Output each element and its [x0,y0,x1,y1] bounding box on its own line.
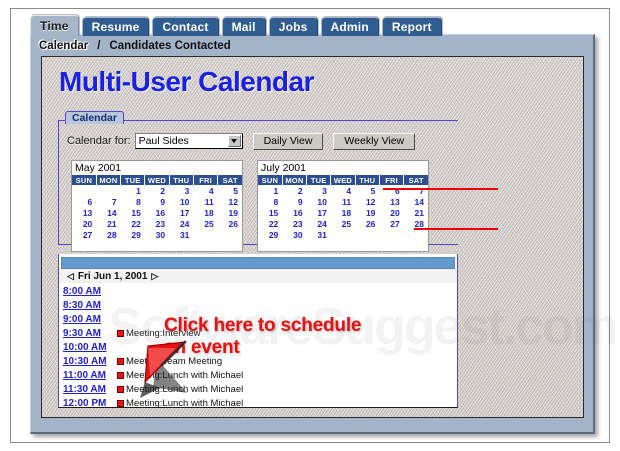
month-header-row: SUN MON TUE WED THU FRI SAT [72,175,242,185]
month-week-row: 6 7 8 9 10 11 12 [72,196,242,207]
day-header-sun: SUN [72,175,96,185]
day-cell-empty [404,229,428,240]
mini-calendar-may-grid: SUN MON TUE WED THU FRI SAT [72,175,242,251]
day-cell-empty [193,240,217,251]
day-view-date-bar: ◁ Fri Jun 1, 2001 ▷ [59,269,457,284]
day-header-thu: THU [169,175,193,185]
event-entry[interactable]: Meeting:Lunch with Michael [117,370,243,381]
event-entry[interactable]: Meeting:Interview [117,328,200,339]
day-cell[interactable]: 6 [379,185,403,196]
event-entry[interactable]: Meeting:Lunch with Michael [117,384,243,395]
time-slot-link[interactable]: 11:00 AM [63,370,117,381]
time-slot-row[interactable]: 9:00 AM [59,312,457,326]
day-cell-empty [355,240,379,251]
day-header-fri: FRI [193,175,217,185]
month-week-row: 1 2 3 4 5 [72,185,242,196]
month-header-row: SUN MON TUE WED THU FRI SAT [258,175,428,185]
day-cell[interactable]: 13 [72,207,96,218]
time-slot-row[interactable]: 12:00 PM Meeting:Lunch with Michael [59,397,457,408]
event-entry[interactable]: Meeting:Lunch with Michael [117,398,243,408]
day-view-header-bar [61,257,455,269]
day-cell-empty [218,229,242,240]
day-cell[interactable]: 1 [121,185,145,196]
mini-calendar-may: May 2001 SUN MON TUE WED THU FRI SAT [71,160,243,252]
day-cell[interactable]: 9 [282,196,306,207]
day-cell[interactable]: 7 [96,196,120,207]
day-header-sun: SUN [258,175,282,185]
tab-jobs[interactable]: Jobs [269,17,318,36]
month-week-row: 8 9 10 11 12 13 14 [258,196,428,207]
day-cell[interactable]: 18 [193,207,217,218]
tab-mail-label: Mail [232,20,256,34]
event-label: Meeting:Lunch with Michael [126,370,243,381]
day-cell[interactable]: 26 [355,218,379,229]
screenshot-root: Time Resume Contact Mail Jobs Admin Repo… [0,0,620,451]
event-label: Meeting:Lunch with Michael [126,384,243,395]
day-view-panel: ◁ Fri Jun 1, 2001 ▷ 8:00 AM 8:30 AM 9:00… [58,254,458,408]
tab-jobs-label: Jobs [279,20,308,34]
day-cell[interactable]: 10 [307,196,331,207]
event-label: Meeting:Lunch with Michael [126,398,243,408]
day-cell[interactable]: 13 [379,196,403,207]
tab-report[interactable]: Report [382,17,442,36]
day-cell[interactable]: 29 [258,229,282,240]
day-cell[interactable]: 10 [169,196,193,207]
daily-view-button[interactable]: Daily View [253,133,324,150]
day-cell[interactable]: 7 [404,185,428,196]
tab-time[interactable]: Time [30,15,79,36]
day-cell[interactable]: 24 [169,218,193,229]
weekly-view-button-label: Weekly View [344,135,404,147]
tab-time-label: Time [40,19,69,33]
month-week-row: 15 16 17 18 19 20 21 [258,207,428,218]
time-slot-row[interactable]: 10:30 AM Meeting:Team Meeting [59,354,457,368]
day-cell[interactable]: 27 [379,218,403,229]
time-slot-link[interactable]: 9:30 AM [63,328,117,339]
day-cell[interactable]: 21 [96,218,120,229]
event-marker-icon [117,372,124,379]
tab-contact[interactable]: Contact [152,17,218,36]
day-cell[interactable]: 23 [282,218,306,229]
annotation-line-july-week [414,228,498,230]
previous-day-icon[interactable]: ◁ [63,271,78,282]
day-cell[interactable]: 29 [121,229,145,240]
day-cell[interactable]: 20 [72,218,96,229]
day-cell[interactable]: 19 [355,207,379,218]
daily-view-button-label: Daily View [264,135,313,147]
day-header-wed: WED [331,175,355,185]
time-slot-link[interactable]: 8:30 AM [63,300,117,311]
day-cell[interactable]: 25 [331,218,355,229]
day-cell[interactable]: 31 [169,229,193,240]
day-cell[interactable]: 9 [145,196,169,207]
day-cell[interactable]: 22 [121,218,145,229]
chevron-down-icon[interactable] [228,135,241,147]
day-cell[interactable]: 21 [404,207,428,218]
day-header-wed: WED [145,175,169,185]
day-header-sat: SAT [404,175,428,185]
day-cell-empty [72,240,96,251]
time-slot-row[interactable]: 8:30 AM [59,298,457,312]
day-cell[interactable]: 11 [331,196,355,207]
time-slot-link[interactable]: 8:00 AM [63,286,117,297]
day-cell[interactable]: 25 [193,218,217,229]
day-cell[interactable]: 16 [282,207,306,218]
tab-resume-label: Resume [92,20,140,34]
day-cell[interactable]: 3 [307,185,331,196]
event-marker-icon [117,400,124,407]
day-cell[interactable]: 6 [72,196,96,207]
tab-mail[interactable]: Mail [222,17,266,36]
day-cell[interactable]: 3 [169,185,193,196]
day-cell[interactable]: 14 [96,207,120,218]
annotation-line-weekly-view [383,188,498,190]
day-cell[interactable]: 5 [355,185,379,196]
time-slot-link[interactable]: 9:00 AM [63,314,117,325]
day-cell-empty [355,229,379,240]
month-week-row: 29 30 31 [258,229,428,240]
day-cell[interactable]: 2 [145,185,169,196]
tab-resume[interactable]: Resume [82,17,150,36]
day-cell-empty [193,229,217,240]
day-cell[interactable]: 8 [258,196,282,207]
time-slot-link[interactable]: 10:00 AM [63,342,117,353]
month-week-row: 22 23 24 25 26 27 28 [258,218,428,229]
day-cell[interactable]: 12 [218,196,242,207]
mini-calendar-july: July 2001 SUN MON TUE WED THU FRI SAT [257,160,429,252]
tab-admin-label: Admin [331,20,369,34]
mini-calendar-july-grid: SUN MON TUE WED THU FRI SAT 1 [258,175,428,251]
day-cell[interactable]: 19 [218,207,242,218]
content-panel: Multi-User Calendar Calendar Calendar fo… [41,56,584,418]
day-cell[interactable]: 17 [169,207,193,218]
fieldset-legend-calendar: Calendar [65,111,124,124]
month-week-row: 27 28 29 30 31 [72,229,242,240]
time-slot-link[interactable]: 11:30 AM [63,384,117,395]
day-cell[interactable]: 24 [307,218,331,229]
day-cell[interactable]: 1 [258,185,282,196]
day-cell[interactable] [96,185,120,196]
day-header-mon: MON [96,175,120,185]
mini-calendar-may-title: May 2001 [72,161,242,175]
app-window: Calendar / Candidates Contacted Multi-Us… [30,34,595,434]
next-day-icon[interactable]: ▷ [147,271,162,282]
day-cell[interactable]: 4 [193,185,217,196]
day-cell[interactable]: 16 [145,207,169,218]
day-cell[interactable] [72,185,96,196]
day-header-thu: THU [355,175,379,185]
calendar-user-select-value: Paul Sides [136,135,189,147]
calendar-user-select[interactable]: Paul Sides [135,133,243,149]
day-cell[interactable]: 27 [72,229,96,240]
day-cell-empty [307,240,331,251]
day-cell[interactable]: 8 [121,196,145,207]
calendar-toolbar: Calendar for: Paul Sides Daily View Week… [67,132,415,150]
day-cell-empty [331,240,355,251]
day-header-mon: MON [282,175,306,185]
day-header-tue: TUE [121,175,145,185]
day-cell[interactable]: 26 [218,218,242,229]
day-cell[interactable]: 30 [145,229,169,240]
time-slot-link[interactable]: 12:00 PM [63,398,117,408]
time-slot-row[interactable]: 11:00 AM Meeting:Lunch with Michael [59,369,457,383]
day-view-date-label: Fri Jun 1, 2001 [78,271,147,282]
day-cell-empty [258,240,282,251]
day-cell[interactable]: 31 [307,229,331,240]
time-slot-link[interactable]: 10:30 AM [63,356,117,367]
main-tab-bar: Time Resume Contact Mail Jobs Admin Repo… [30,16,445,36]
month-week-row: 1 2 3 4 5 6 7 [258,185,428,196]
breadcrumb-separator: / [97,40,100,52]
day-cell[interactable]: 11 [193,196,217,207]
page-title: Multi-User Calendar [59,66,314,98]
month-week-row: 20 21 22 23 24 25 26 [72,218,242,229]
tab-contact-label: Contact [162,20,208,34]
event-label: Meeting:Team Meeting [126,356,222,367]
day-cell-empty [331,229,355,240]
day-header-sat: SAT [218,175,242,185]
day-cell-empty [96,240,120,251]
time-slot-row[interactable]: 8:00 AM [59,284,457,298]
mini-calendar-july-title: July 2001 [258,161,428,175]
day-cell[interactable]: 18 [331,207,355,218]
event-marker-icon [117,358,124,365]
day-cell[interactable]: 2 [282,185,306,196]
time-slot-row[interactable]: 9:30 AM Meeting:Interview [59,326,457,340]
breadcrumb-item-candidates-contacted[interactable]: Candidates Contacted [109,40,230,52]
day-cell[interactable]: 15 [258,207,282,218]
weekly-view-button[interactable]: Weekly View [333,133,415,150]
day-cell-empty [282,240,306,251]
day-cell[interactable]: 28 [96,229,120,240]
tab-report-label: Report [392,20,432,34]
breadcrumb-item-calendar[interactable]: Calendar [39,40,88,52]
month-week-row [258,240,428,251]
breadcrumb: Calendar / Candidates Contacted [39,38,231,54]
event-marker-icon [117,330,124,337]
event-label: Meeting:Interview [126,328,200,339]
day-cell[interactable]: 17 [307,207,331,218]
day-cell-empty [379,240,403,251]
day-cell-empty [404,240,428,251]
day-cell-empty [218,240,242,251]
day-cell[interactable]: 14 [404,196,428,207]
day-cell-empty [121,240,145,251]
day-cell[interactable]: 20 [379,207,403,218]
day-cell[interactable]: 12 [355,196,379,207]
day-cell[interactable]: 15 [121,207,145,218]
time-slot-row[interactable]: 10:00 AM [59,340,457,354]
calendar-for-label: Calendar for: [67,135,131,147]
day-cell-empty [145,240,169,251]
time-slot-row[interactable]: 11:30 AM Meeting:Lunch with Michael [59,383,457,397]
day-cell[interactable]: 23 [145,218,169,229]
month-week-row: 13 14 15 16 17 18 19 [72,207,242,218]
event-entry[interactable]: Meeting:Team Meeting [117,356,222,367]
calendar-fieldset: Calendar Calendar for: Paul Sides Daily … [58,120,458,245]
day-header-tue: TUE [307,175,331,185]
day-cell-empty [379,229,403,240]
day-cell[interactable]: 22 [258,218,282,229]
day-cell-empty [169,240,193,251]
day-cell[interactable]: 4 [331,185,355,196]
day-cell[interactable]: 30 [282,229,306,240]
day-cell[interactable]: 5 [218,185,242,196]
event-marker-icon [117,386,124,393]
day-header-fri: FRI [379,175,403,185]
month-week-row [72,240,242,251]
tab-admin[interactable]: Admin [321,17,379,36]
